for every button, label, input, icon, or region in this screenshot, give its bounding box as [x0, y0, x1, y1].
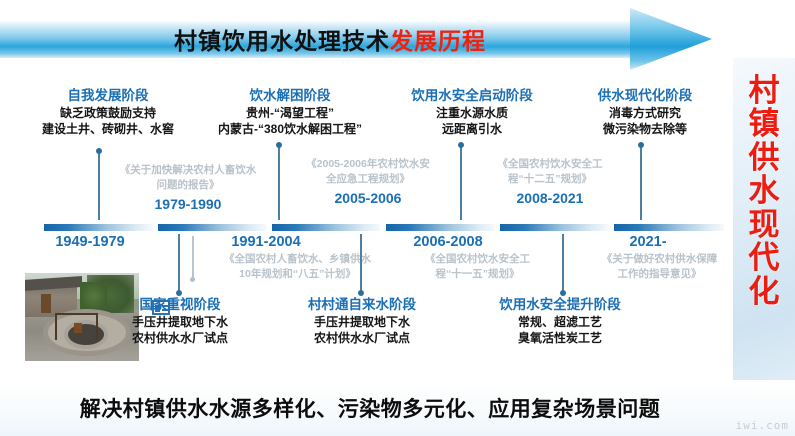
- bottom-banner-text: 解决村镇供水水源多样化、污染物多元化、应用复杂场景问题: [0, 388, 740, 428]
- docref-year: 1979-1990: [108, 194, 268, 215]
- docref-line: 《全国农村饮水安全工: [470, 157, 630, 172]
- docref-line: 工作的指导意见》: [572, 267, 747, 282]
- page-title-red-part: 发展历程: [390, 22, 486, 56]
- photo-well-frame-left: [55, 314, 57, 340]
- timeline-segment-6: [614, 224, 724, 231]
- connector-dot-up-2: [276, 142, 282, 148]
- stage-self-development: 自我发展阶段 缺乏政策鼓励支持 建设土井、砖砌井、水窖: [8, 88, 208, 138]
- timeline-segment-4: [386, 224, 494, 231]
- side-panel-char-5: 现: [749, 208, 780, 241]
- stage-tap-water-to-every-village: 村村通自来水阶段 手压井提取地下水 农村供水水厂试点: [282, 297, 442, 347]
- side-panel-char-6: 代: [749, 241, 780, 274]
- vertical-side-panel: 村 镇 供 水 现 代 化: [733, 58, 795, 426]
- docref-guidance-opinion: 《关于做好农村供水保障 工作的指导意见》: [572, 252, 747, 282]
- docref-line: 《全国农村人畜饮水、乡镇供水: [190, 252, 405, 267]
- stage-line: 微污染物去除等: [560, 121, 730, 138]
- docref-line: 《关于加快解决农村人畜饮水: [108, 163, 268, 178]
- connector-dot-down-1: [176, 290, 182, 296]
- connector-dot-down-3: [560, 290, 566, 296]
- connector-line-up-4: [640, 146, 642, 220]
- docref-line: 问题的报告》: [108, 178, 268, 193]
- connector-line-up-3: [460, 146, 462, 220]
- docref-line: 全应急工程规划》: [288, 172, 448, 187]
- page-title: 村镇饮用水处理技术发展历程: [0, 20, 660, 58]
- stage-title: 自我发展阶段: [8, 88, 208, 105]
- timeline-year-label: 1949-1979: [20, 234, 160, 250]
- title-banner: 村镇饮用水处理技术发展历程: [0, 8, 760, 70]
- connector-line-down-3: [562, 234, 564, 294]
- connector-line-up-2: [278, 146, 280, 220]
- connector-dot-up-4: [638, 142, 644, 148]
- docref-2005-2006: 《2005-2006年农村饮水安 全应急工程规划》 2005-2006: [288, 157, 448, 209]
- docref-11th-five-year: 《全国农村饮水安全工 程“十一五”规划》: [390, 252, 565, 282]
- connector-dot-light-1: [190, 277, 195, 282]
- stage-line: 内蒙古-“380饮水解困工程”: [190, 121, 390, 138]
- stage-safety-improvement: 饮用水安全提升阶段 常规、超滤工艺 臭氧活性炭工艺: [470, 297, 650, 347]
- stage-line: 注重水源水质: [372, 105, 572, 122]
- side-panel-char-1: 村: [749, 74, 780, 107]
- stage-line: 常规、超滤工艺: [470, 314, 650, 331]
- side-panel-char-2: 镇: [749, 107, 780, 140]
- timeline-year-label: 2006-2008: [378, 234, 518, 250]
- docref-year: 2008-2021: [470, 188, 630, 209]
- connector-line-light-1: [192, 236, 194, 280]
- stage-title: 饮用水安全提升阶段: [470, 297, 650, 314]
- docref-line: 程“十二五”规划》: [470, 172, 630, 187]
- docref-10year-plan: 《全国农村人畜饮水、乡镇供水 10年规划和“八五”计划》: [190, 252, 405, 282]
- stage-line: 缺乏政策鼓励支持: [8, 105, 208, 122]
- side-panel-char-3: 供: [749, 141, 780, 174]
- watermark-text: iwi.com: [736, 419, 789, 432]
- connector-line-down-1: [178, 234, 180, 294]
- docref-line: 程“十一五”规划》: [390, 267, 565, 282]
- stage-line: 建设土井、砖砌井、水窖: [8, 121, 208, 138]
- bottom-banner: 解决村镇供水水源多样化、污染物多元化、应用复杂场景问题: [0, 380, 795, 436]
- stage-line: 臭氧活性炭工艺: [470, 330, 650, 347]
- stage-line: 远距离引水: [372, 121, 572, 138]
- stage-title: 饮用水安全启动阶段: [372, 88, 572, 105]
- stage-title: 国家重视阶段: [100, 297, 260, 314]
- stage-title: 供水现代化阶段: [560, 88, 730, 105]
- stage-modernization: 供水现代化阶段 消毒方式研究 微污染物去除等: [560, 88, 730, 138]
- stage-line: 农村供水水厂试点: [282, 330, 442, 347]
- side-panel-char-4: 水: [749, 174, 780, 207]
- photo-door: [41, 294, 51, 313]
- docref-2008-2021: 《全国农村饮水安全工 程“十二五”规划》 2008-2021: [470, 157, 630, 209]
- photo-well-frame-right: [96, 314, 98, 340]
- timeline-segment-1: [44, 224, 152, 231]
- docref-year: 2005-2006: [288, 188, 448, 209]
- photo-well-frame-top: [55, 313, 98, 315]
- timeline-year-label: 1991-2004: [196, 234, 336, 250]
- stage-line: 农村供水水厂试点: [100, 330, 260, 347]
- stage-line: 贵州-“渴望工程”: [190, 105, 390, 122]
- stage-title: 村村通自来水阶段: [282, 297, 442, 314]
- stage-line: 手压井提取地下水: [282, 314, 442, 331]
- stage-national-attention: 国家重视阶段 手压井提取地下水 农村供水水厂试点: [100, 297, 260, 347]
- photo-well-bucket: [74, 323, 82, 333]
- connector-dot-down-2: [358, 290, 364, 296]
- page-title-black-part: 村镇饮用水处理技术: [174, 22, 390, 56]
- docref-1979-1990: 《关于加快解决农村人畜饮水 问题的报告》 1979-1990: [108, 163, 268, 215]
- stage-line: 手压井提取地下水: [100, 314, 260, 331]
- connector-line-up-1: [98, 152, 100, 220]
- connector-line-down-2: [360, 234, 362, 294]
- timeline-segment-5: [500, 224, 608, 231]
- stage-water-relief: 饮水解困阶段 贵州-“渴望工程” 内蒙古-“380饮水解困工程”: [190, 88, 390, 138]
- stage-line: 消毒方式研究: [560, 105, 730, 122]
- stage-title: 饮水解困阶段: [190, 88, 390, 105]
- connector-dot-up-1: [96, 148, 102, 154]
- slide-canvas: 村镇饮用水处理技术发展历程 村 镇 供 水 现 代 化 自我发展阶段 缺乏政策鼓…: [0, 0, 795, 436]
- docref-line: 10年规划和“八五”计划》: [190, 267, 405, 282]
- side-panel-char-7: 化: [749, 275, 780, 308]
- docref-line: 《关于做好农村供水保障: [572, 252, 747, 267]
- timeline-segment-3: [272, 224, 380, 231]
- stage-safety-startup: 饮用水安全启动阶段 注重水源水质 远距离引水: [372, 88, 572, 138]
- docref-line: 《2005-2006年农村饮水安: [288, 157, 448, 172]
- docref-line: 《全国农村饮水安全工: [390, 252, 565, 267]
- timeline-segment-2: [158, 224, 266, 231]
- timeline-year-label: 2021-: [578, 234, 718, 250]
- connector-dot-up-3: [458, 142, 464, 148]
